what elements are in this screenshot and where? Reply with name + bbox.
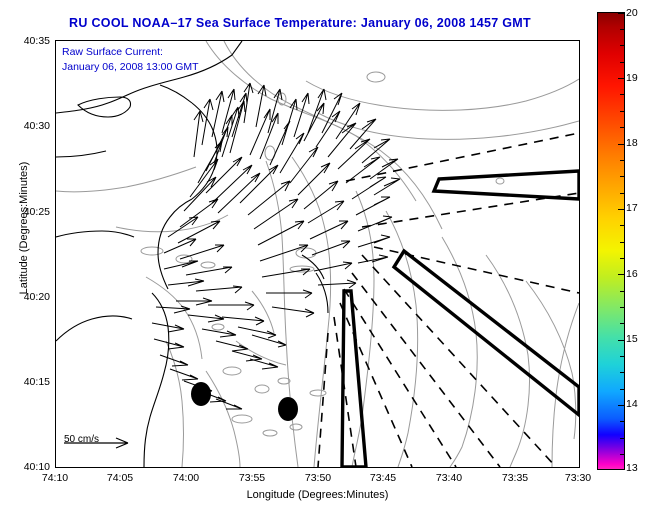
current-annotation: Raw Surface Current: January 06, 2008 13… [62,45,199,75]
scale-bar: 50 cm/s [60,434,99,445]
colorbar-tick-label: 14 [626,398,638,410]
ytick-label: 40:20 [50,291,76,303]
station-marker [278,397,298,421]
ytick-label: 40:10 [50,461,76,473]
colorbar-tick-label: 16 [626,268,638,280]
xtick-label: 73:40 [436,472,462,484]
xtick-label: 74:05 [107,472,133,484]
xtick-label: 73:50 [305,472,331,484]
map-axes[interactable]: Raw Surface Current: January 06, 2008 13… [55,40,580,468]
scale-bar-arrow-icon [60,434,140,450]
colorbar-tick-label: 20 [626,7,638,19]
ytick-label: 40:25 [50,206,76,218]
colorbar-tick-label: 13 [626,462,638,474]
xtick-label: 73:55 [239,472,265,484]
xtick-label: 73:35 [502,472,528,484]
ytick-label: 40:30 [50,120,76,132]
xtick-label: 74:10 [42,472,68,484]
colorbar-tick-label: 17 [626,202,638,214]
xtick-label: 73:45 [370,472,396,484]
map-graphics [56,41,579,467]
xtick-label: 73:30 [565,472,591,484]
ytick-label: 40:15 [50,376,76,388]
colorbar[interactable] [597,12,625,470]
shipping-lane-polygon-group [342,171,579,467]
current-annotation-line2: January 06, 2008 13:00 GMT [62,60,199,75]
colorbar-gradient [598,13,624,469]
station-marker [191,382,211,406]
xtick-label: 74:00 [173,472,199,484]
x-axis-title: Longitude (Degrees:Minutes) [55,489,580,501]
bathymetry-contour-group [56,41,579,467]
colorbar-tick-label: 15 [626,333,638,345]
figure-canvas: RU COOL NOAA–17 Sea Surface Temperature:… [0,0,651,518]
figure-title: RU COOL NOAA–17 Sea Surface Temperature:… [0,16,600,30]
colorbar-tick-label: 19 [626,72,638,84]
colorbar-tick-label: 18 [626,137,638,149]
y-axis-title: Latitude (Degrees:Minutes) [18,118,30,338]
current-annotation-line1: Raw Surface Current: [62,45,199,60]
current-vector-group [152,83,400,409]
